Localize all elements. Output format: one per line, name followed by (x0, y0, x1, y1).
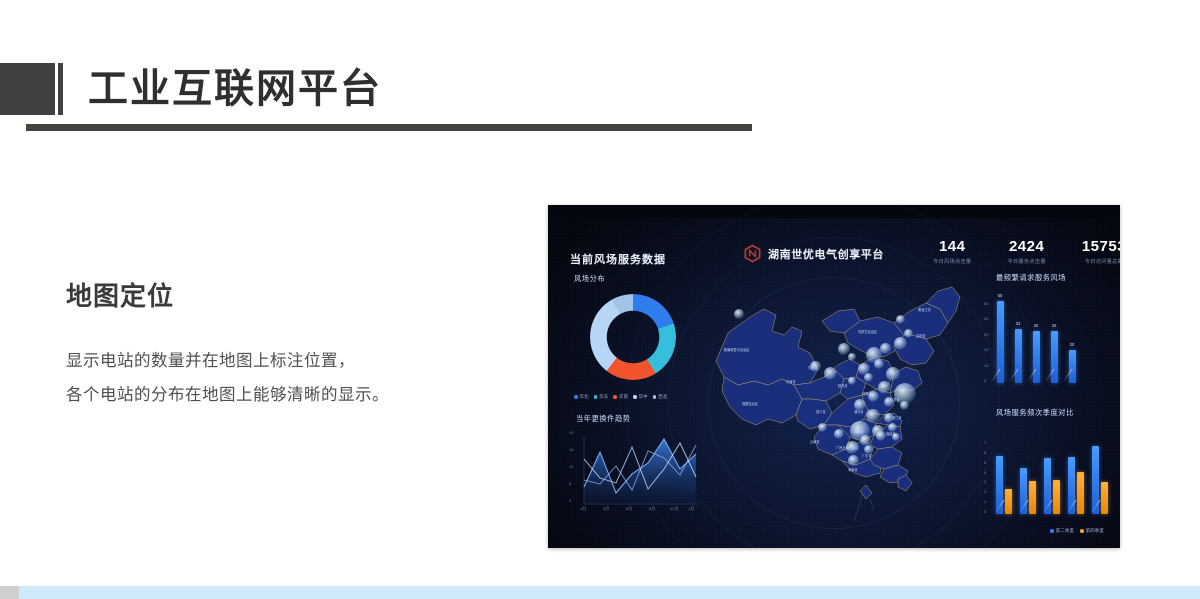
map-bubble (854, 399, 866, 411)
bar-pair (1092, 446, 1108, 514)
area-x-tick: 8月 (649, 506, 655, 512)
bar-column: 50 (996, 301, 1004, 383)
bar-series-2 (1101, 482, 1108, 514)
area-chart-title: 当年更换件趋势 (576, 414, 631, 424)
bar-chart-top-title: 最频繁请求服务风场 (996, 273, 1066, 283)
legend-swatch-icon (613, 395, 617, 399)
bar-column: 32 (1050, 331, 1058, 383)
map-bubble (904, 329, 913, 338)
y-tick: 10 (984, 363, 988, 368)
legend-item: 华南 (613, 394, 628, 400)
brand-lockup: 湖南世优电气创享平台 (743, 244, 884, 263)
map-bubble (734, 309, 744, 319)
legend-item: 华北 (574, 394, 589, 400)
legend-swatch-icon (594, 395, 598, 399)
map-bubble (866, 409, 880, 423)
map-bubble (864, 373, 873, 382)
legend-label: 华中 (639, 394, 648, 400)
legend-label: 华北 (580, 394, 589, 400)
bar (1015, 329, 1022, 383)
brand-name: 湖南世优电气创享平台 (768, 246, 884, 262)
legend-swatch-icon (633, 395, 637, 399)
kpi-row: 144 今日风场点击量 2424 今日服务点击量 15753 今日访问量总数 (933, 238, 1120, 265)
map-bubble (824, 367, 837, 380)
map-bubble (848, 377, 856, 385)
legend-label: 华南 (619, 394, 628, 400)
area-y-tick: 0 (569, 498, 571, 503)
y-tick: 7 (984, 440, 986, 445)
y-tick: 20 (984, 347, 988, 352)
slide-canvas: 工业互联网平台 地图定位 显示电站的数量并在地图上标注位置， 各个电站的分布在地… (0, 0, 1200, 599)
kpi-card: 2424 今日服务点击量 (1007, 238, 1045, 265)
legend-item: 第四季度 (1080, 528, 1104, 534)
province-label: 海南省 (848, 467, 858, 472)
area-y-tick: 20 (569, 430, 573, 435)
bar-series-2 (1005, 489, 1012, 514)
area-x-tick: 1月 (688, 506, 694, 512)
page-title: 工业互联网平台 (88, 62, 382, 116)
map-bubble (834, 429, 844, 439)
area-x-tick: 6月 (626, 506, 632, 512)
y-tick: 5 (984, 460, 986, 465)
map-bubble (810, 361, 821, 372)
bar-value: 50 (998, 293, 1003, 298)
area-chart (574, 430, 700, 516)
bar-chart-bottom-title: 风场服务频次季度对比 (996, 408, 1074, 418)
kpi-value: 15753 (1082, 238, 1120, 256)
kpi-value: 144 (933, 238, 971, 256)
map-bubble (848, 353, 856, 361)
province-label: 黑龙江省 (918, 307, 931, 312)
hexagon-logo-icon (743, 244, 762, 263)
header-divider (26, 124, 752, 131)
donut-legend: 华北 华东 华南 华中 西北 (574, 394, 667, 400)
map-bubble (876, 431, 886, 441)
y-tick: 2 (984, 489, 986, 494)
body-line-1: 显示电站的数量并在地图上标注位置， (66, 344, 496, 378)
bar-column: 20 (1068, 350, 1076, 383)
province-label: 新疆维吾尔自治区 (724, 347, 750, 352)
map-bubble (878, 381, 891, 394)
map-bubble (886, 367, 900, 381)
bar-value: 32 (1034, 323, 1039, 328)
kpi-label: 今日访问量总数 (1082, 258, 1120, 265)
y-tick: 3 (984, 479, 986, 484)
bar-column: 33 (1014, 329, 1022, 383)
bar-bottom-legend: 第二季度 第四季度 (1050, 528, 1104, 534)
donut-chart (590, 294, 676, 380)
province-label: 内蒙古自治区 (858, 329, 877, 334)
legend-item: 第二季度 (1050, 528, 1074, 534)
map-bubble (868, 391, 879, 402)
province-label: 四川省 (816, 409, 826, 414)
province-label: 陕西省 (838, 383, 848, 388)
dashboard-caption: 当前风场服务数据 (570, 251, 666, 267)
area-y-tick: 5 (569, 481, 571, 486)
bar-chart-top: 50 33 32 32 (996, 301, 1076, 383)
bar-group (1068, 457, 1084, 514)
bar-group (1044, 458, 1060, 514)
legend-item: 华中 (633, 394, 648, 400)
kpi-label: 今日风场点击量 (933, 258, 971, 265)
bar-group (1020, 468, 1036, 514)
kpi-card: 144 今日风场点击量 (933, 238, 971, 265)
bar-value: 32 (1052, 323, 1057, 328)
province-label: 青海省 (786, 379, 796, 384)
area-chart-panel: 当年更换件趋势 20 15 (564, 414, 704, 534)
y-tick: 4 (984, 470, 986, 475)
y-tick: 0 (984, 378, 988, 383)
legend-item: 西北 (653, 394, 668, 400)
y-tick: 6 (984, 450, 986, 455)
bar-group (996, 456, 1012, 514)
legend-swatch-icon (1080, 529, 1084, 533)
bar-chart-bottom (996, 440, 1108, 514)
legend-swatch-icon (574, 395, 578, 399)
footer-bar (19, 586, 1200, 599)
bar-chart-bottom-panel: 风场服务频次季度对比 7 6 5 4 3 2 1 0 (980, 408, 1112, 536)
legend-label: 第四季度 (1086, 528, 1104, 534)
bar (1069, 350, 1076, 383)
y-tick: 30 (984, 332, 988, 337)
bar (1051, 331, 1058, 383)
bar-value: 33 (1016, 321, 1021, 326)
y-tick: 50 (984, 301, 988, 306)
bar-series-2 (1029, 481, 1036, 514)
bar-chart-top-panel: 最频繁请求服务风场 50 40 30 20 10 0 50 (980, 273, 1112, 401)
dashboard-screenshot: 当前风场服务数据 湖南世优电气创享平台 144 今日风场点击量 2424 今日服… (548, 205, 1120, 548)
map-bubble (848, 455, 859, 466)
bar-group (1092, 446, 1108, 514)
kpi-label: 今日服务点击量 (1007, 258, 1045, 265)
bar-top-y-axis: 50 40 30 20 10 0 (984, 301, 988, 383)
province-label: 西藏自治区 (742, 401, 758, 406)
kpi-card: 15753 今日访问量总数 (1082, 238, 1120, 265)
map-bubble (874, 359, 884, 369)
bar-value: 20 (1070, 342, 1075, 347)
kpi-value: 2424 (1007, 238, 1045, 256)
map-bubble (880, 343, 891, 354)
map-bubble (892, 433, 900, 441)
area-x-tick: 4月 (603, 506, 609, 512)
legend-item: 华东 (594, 394, 609, 400)
province-label: 吉林省 (916, 333, 926, 338)
map-bubble (888, 423, 897, 432)
dashboard-canvas: 当前风场服务数据 湖南世优电气创享平台 144 今日风场点击量 2424 今日服… (548, 218, 1120, 548)
donut-chart-panel: 风场分布 华北 华东 华南 华中 西北 (570, 276, 690, 396)
map-bubble (884, 413, 894, 423)
area-x-tick: 1月 (580, 506, 586, 512)
body-line-2: 各个电站的分布在地图上能够清晰的显示。 (66, 378, 496, 412)
legend-swatch-icon (653, 395, 657, 399)
map-bubble (818, 423, 827, 432)
china-map[interactable]: 新疆维吾尔自治区 西藏自治区 青海省 四川省 云南省 内蒙古自治区 黑龙江省 吉… (698, 273, 983, 535)
province-label: 云南省 (810, 439, 820, 444)
map-bubble (846, 441, 859, 454)
header-accent-tick (58, 63, 63, 115)
y-tick: 40 (984, 316, 988, 321)
area-y-tick: 15 (569, 447, 573, 452)
section-body: 显示电站的数量并在地图上标注位置， 各个电站的分布在地图上能够清晰的显示。 (66, 344, 496, 412)
area-x-tick: 10月 (670, 506, 678, 512)
section-heading: 地图定位 (66, 276, 174, 313)
legend-label: 华东 (599, 394, 608, 400)
legend-label: 西北 (658, 394, 667, 400)
header-accent-block (0, 63, 55, 115)
map-bubble (884, 397, 894, 407)
dashboard-bezel (548, 205, 1120, 218)
footer-square (0, 586, 19, 599)
area-y-tick: 10 (569, 464, 573, 469)
bar-series-2 (1077, 472, 1084, 514)
legend-swatch-icon (1050, 529, 1054, 533)
bar-series-2 (1053, 480, 1060, 514)
legend-label: 第二季度 (1056, 528, 1074, 534)
bar (1033, 331, 1040, 383)
y-tick: 1 (984, 499, 986, 504)
y-tick: 0 (984, 509, 986, 514)
bar-column: 32 (1032, 331, 1040, 383)
map-bubble (864, 445, 873, 454)
donut-chart-title: 风场分布 (574, 274, 605, 284)
map-bubble (900, 401, 909, 410)
map-bubble (896, 315, 905, 324)
bar-bottom-y-axis: 7 6 5 4 3 2 1 0 (984, 440, 986, 514)
map-bubble (894, 337, 907, 350)
